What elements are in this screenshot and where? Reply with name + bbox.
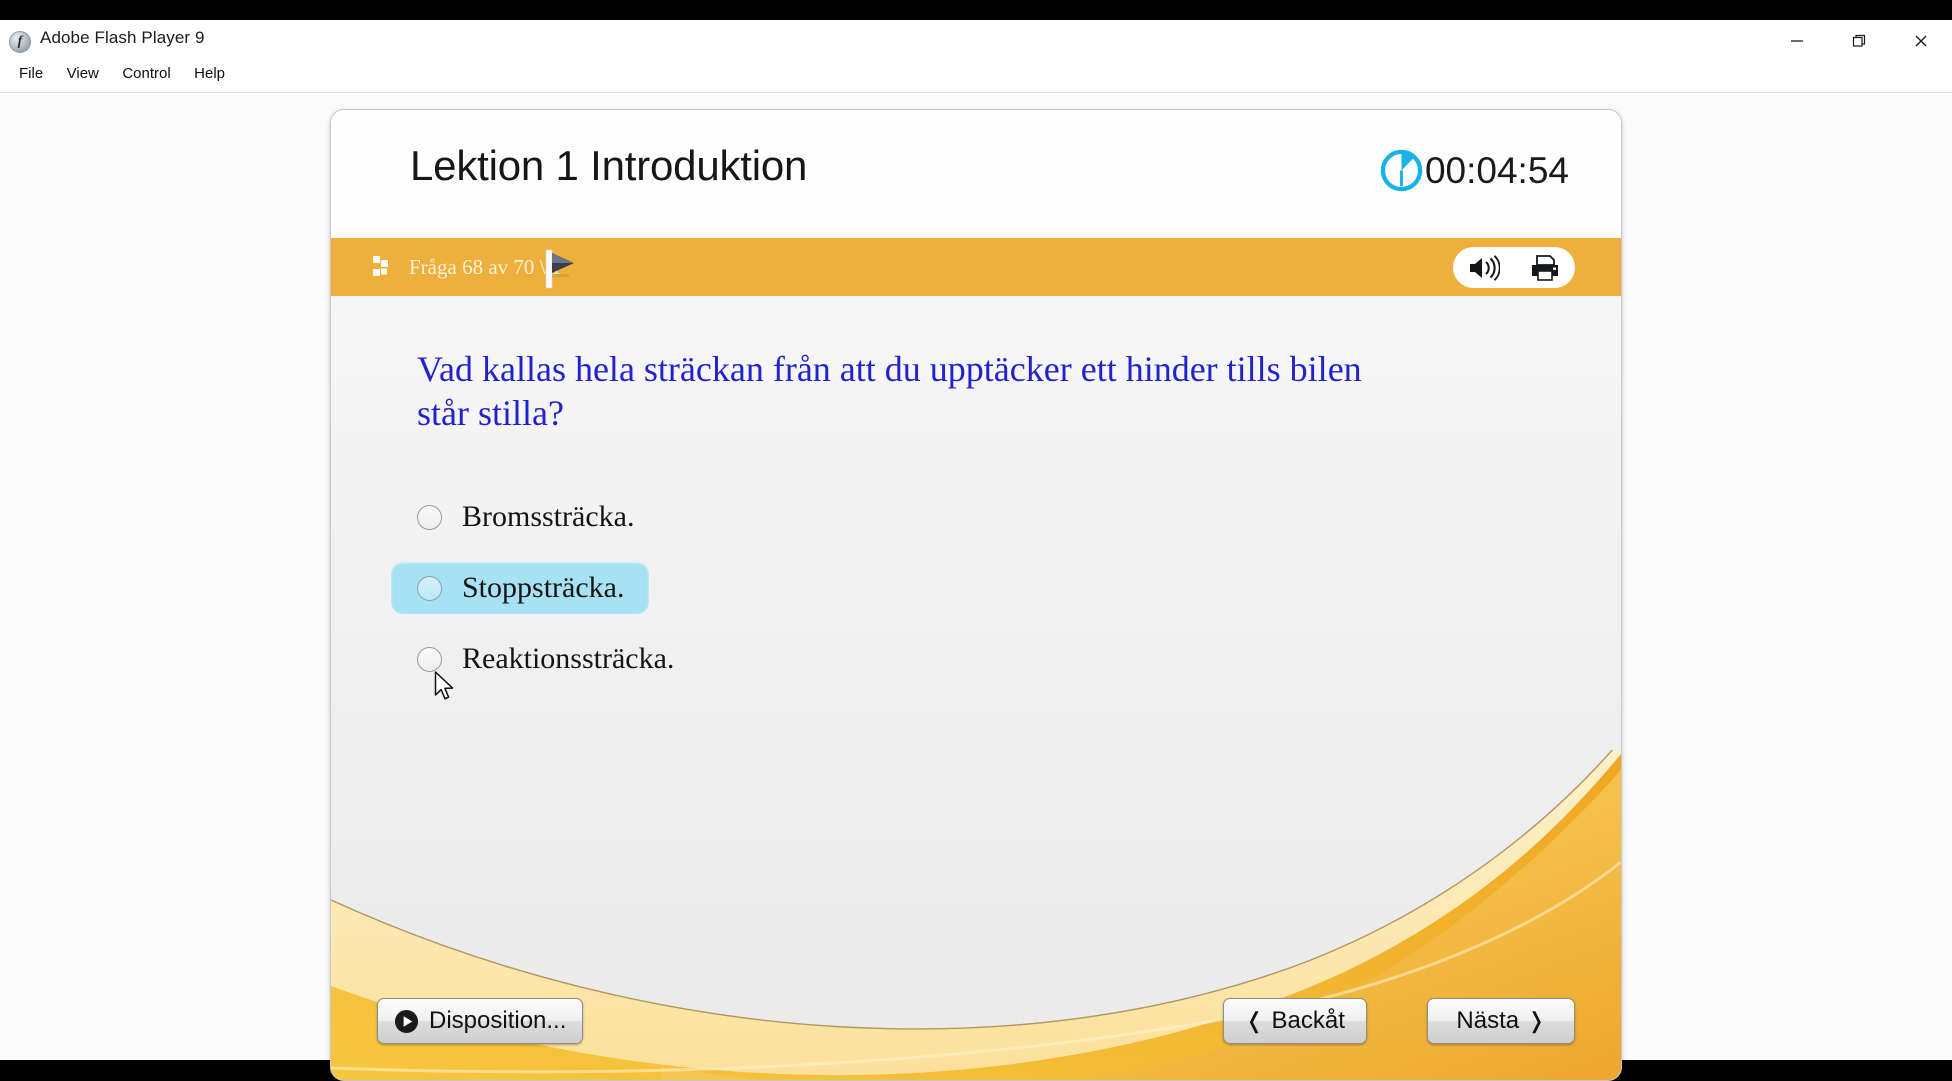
next-chevron-icon: ❭ [1527,1008,1545,1034]
outline-button-label: Disposition... [429,1007,566,1035]
maximize-button[interactable] [1828,20,1890,62]
maximize-icon [1851,33,1867,49]
menu-item-file[interactable]: File [10,62,53,85]
lesson-title: Lektion 1 Introduktion [410,142,807,190]
flash-icon-glyph: f [10,32,30,52]
menu-bar: File View Control Help [0,62,1952,92]
flag-icon[interactable] [543,248,579,290]
course-body: Vad kallas hela sträckan från att du upp… [331,296,1621,1080]
close-button[interactable] [1890,20,1952,62]
speaker-icon [1468,255,1500,281]
flash-icon: f [9,31,31,53]
question-progress-label: Fråga 68 av 70 \ 1 [409,255,561,280]
printer-icon [1530,254,1560,282]
timer-value: 00:04:54 [1425,150,1569,192]
play-circle-icon [394,1009,419,1034]
menu-item-view[interactable]: View [58,62,109,85]
back-button-label: Backåt [1272,1007,1345,1035]
print-button[interactable] [1525,252,1565,284]
menu-item-help[interactable]: Help [185,62,235,85]
back-button[interactable]: ❬ Backåt [1223,998,1367,1044]
answer-option-1[interactable]: Bromssträcka. [391,491,1391,543]
answer-label-3: Reaktionssträcka. [462,642,674,676]
radio-button-1[interactable] [417,505,442,530]
title-bar: f Adobe Flash Player 9 [0,20,1952,62]
next-button-label: Nästa [1456,1007,1519,1035]
radio-button-2[interactable] [417,576,442,601]
outline-button[interactable]: Disposition... [377,998,583,1044]
question-nav-strip: Fråga 68 av 70 \ 1 [331,238,1621,296]
media-controls [1453,247,1575,288]
course-content-card: Lektion 1 Introduktion 00:04:54 [330,109,1622,1081]
audio-button[interactable] [1464,252,1504,284]
answer-option-2[interactable]: Stoppsträcka. [391,562,649,614]
back-chevron-icon: ❬ [1245,1008,1263,1034]
minimize-button[interactable] [1766,20,1828,62]
menu-item-control[interactable]: Control [113,62,180,85]
application-window: f Adobe Flash Player 9 [0,20,1952,1060]
minimize-icon [1789,33,1805,49]
flash-stage: Lektion 1 Introduktion 00:04:54 [0,93,1952,1060]
next-button[interactable]: Nästa ❭ [1427,998,1575,1044]
close-icon [1913,33,1929,49]
question-text: Vad kallas hela sträckan från att du upp… [417,348,1417,436]
answer-option-3[interactable]: Reaktionssträcka. [391,633,1391,685]
answer-label-2: Stoppsträcka. [462,571,624,605]
answer-label-1: Bromssträcka. [462,500,634,534]
screen: f Adobe Flash Player 9 [0,0,1952,1080]
course-header: Lektion 1 Introduktion 00:04:54 [331,110,1621,238]
radio-button-3[interactable] [417,647,442,672]
bookmark-icon[interactable] [372,255,396,281]
window-title: Adobe Flash Player 9 [40,28,205,48]
answer-options: Bromssträcka. Stoppsträcka. Reaktionsstr… [391,491,1391,704]
clock-icon [1378,147,1425,194]
timer: 00:04:54 [1378,147,1569,194]
